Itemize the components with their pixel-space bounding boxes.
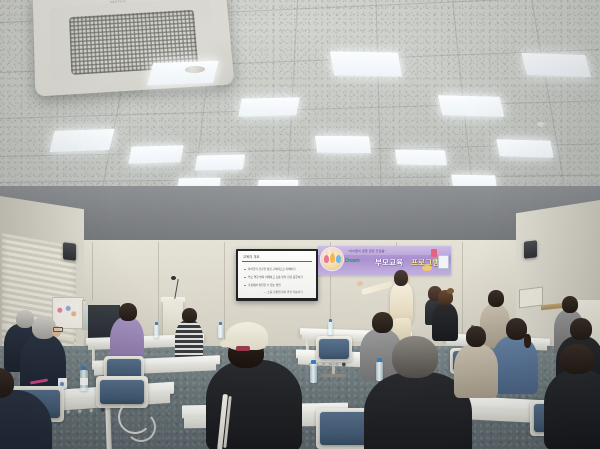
chair-post <box>332 361 335 375</box>
banner-character-head <box>337 251 341 255</box>
ceiling-light-panel <box>238 97 299 117</box>
slide-bullet: 가정에서 실천할 수 있는 방법 <box>248 283 281 287</box>
wall-frame <box>519 287 543 309</box>
ceiling-light-panel <box>395 150 447 166</box>
attendee-head <box>119 303 137 321</box>
bottle-cap <box>329 319 332 322</box>
banner-character-head <box>325 251 329 255</box>
presenter-body <box>390 283 413 323</box>
wall-seam <box>224 242 225 342</box>
chair-base <box>322 374 346 377</box>
attendee-head <box>488 290 504 307</box>
attendee-body <box>454 344 498 398</box>
slide-bullet: 아이들의 건강한 성장 구체적으로 이해하기 <box>248 267 296 271</box>
classroom-photo: VENTILA <box>0 0 600 449</box>
bullet-marker <box>244 285 246 287</box>
slide-title: 교육의 개요 <box>243 254 260 259</box>
glasses-icon <box>53 327 63 332</box>
bottle-cap <box>155 322 158 325</box>
banner-decoration <box>422 265 432 271</box>
ceiling-light-panel <box>496 139 553 158</box>
attendee-ponytail <box>524 334 531 348</box>
bullet-marker <box>244 269 246 271</box>
ceiling-light-panel <box>49 129 114 152</box>
banner-character <box>324 255 329 263</box>
banner-character <box>336 255 341 263</box>
ceiling-light-panel <box>521 53 590 77</box>
ceiling-light-panel <box>128 145 183 164</box>
bottle-cap <box>81 366 86 370</box>
event-banner: "아이들의 꿈을 향한 첫걸음" Dream 부모교육 프로그램 <box>318 246 451 275</box>
wall-speaker <box>63 242 76 261</box>
chair-back[interactable] <box>319 339 349 359</box>
ceiling-light-panel <box>330 51 402 76</box>
wall-seam <box>462 242 463 346</box>
banner-decoration-book <box>438 255 449 269</box>
slide-rule-red <box>242 261 256 262</box>
attendee-head <box>182 308 197 323</box>
cap-band <box>236 346 250 351</box>
slide-bullet: 부모 역할 변화 이해하고 소통 방식 점검 공유하기 <box>248 275 303 279</box>
smoke-detector-icon <box>537 122 546 127</box>
water-bottle[interactable] <box>154 325 159 338</box>
poster-artwork <box>55 303 79 321</box>
wall-speaker <box>524 240 537 259</box>
water-bottle[interactable] <box>328 322 333 335</box>
attendee-hair-bun <box>447 288 454 294</box>
microphone-icon <box>171 276 176 280</box>
water-bottle[interactable] <box>310 364 317 383</box>
banner-character-head <box>331 249 335 253</box>
attendee-body <box>544 370 600 449</box>
bottle-cap <box>311 360 316 364</box>
banner-character <box>330 253 335 263</box>
attendee-head <box>372 312 393 333</box>
water-bottle[interactable] <box>218 325 223 338</box>
attendee-head <box>562 296 578 313</box>
bottle-label <box>80 378 88 385</box>
banner-decoration <box>431 249 437 257</box>
banner-main-text-1: 부모교육 <box>375 257 403 268</box>
ceiling-light-panel <box>438 95 504 117</box>
bottle-cap <box>219 322 222 325</box>
banner-logo: Dream <box>345 258 360 264</box>
attendee-head <box>560 344 594 374</box>
bottle-cap <box>377 358 382 362</box>
ceiling-light-panel <box>195 154 245 170</box>
slide-rule-blue <box>256 261 312 262</box>
projection-screen[interactable]: 교육의 개요 아이들의 건강한 성장 구체적으로 이해하기 부모 역할 변화 이… <box>238 251 316 298</box>
water-bottle[interactable] <box>376 362 383 381</box>
cable-coil <box>126 412 156 442</box>
attendee-head <box>392 336 438 378</box>
attendee-head <box>570 318 592 340</box>
ceiling-light-panel <box>315 136 371 154</box>
banner-illustration <box>321 248 343 270</box>
bullet-marker <box>244 277 246 279</box>
banner-tagline: "아이들의 꿈을 향한 첫걸음" <box>348 248 386 253</box>
attendee-body <box>492 336 538 394</box>
presenter-hair <box>394 270 408 286</box>
attendee-body <box>432 303 458 341</box>
attendee-head <box>466 326 486 347</box>
ceiling-light-panel <box>147 61 219 86</box>
slide-subnote: — 소통 상황별 대화 방법 적용하기 <box>264 290 303 294</box>
upper-wall-band <box>0 186 600 248</box>
